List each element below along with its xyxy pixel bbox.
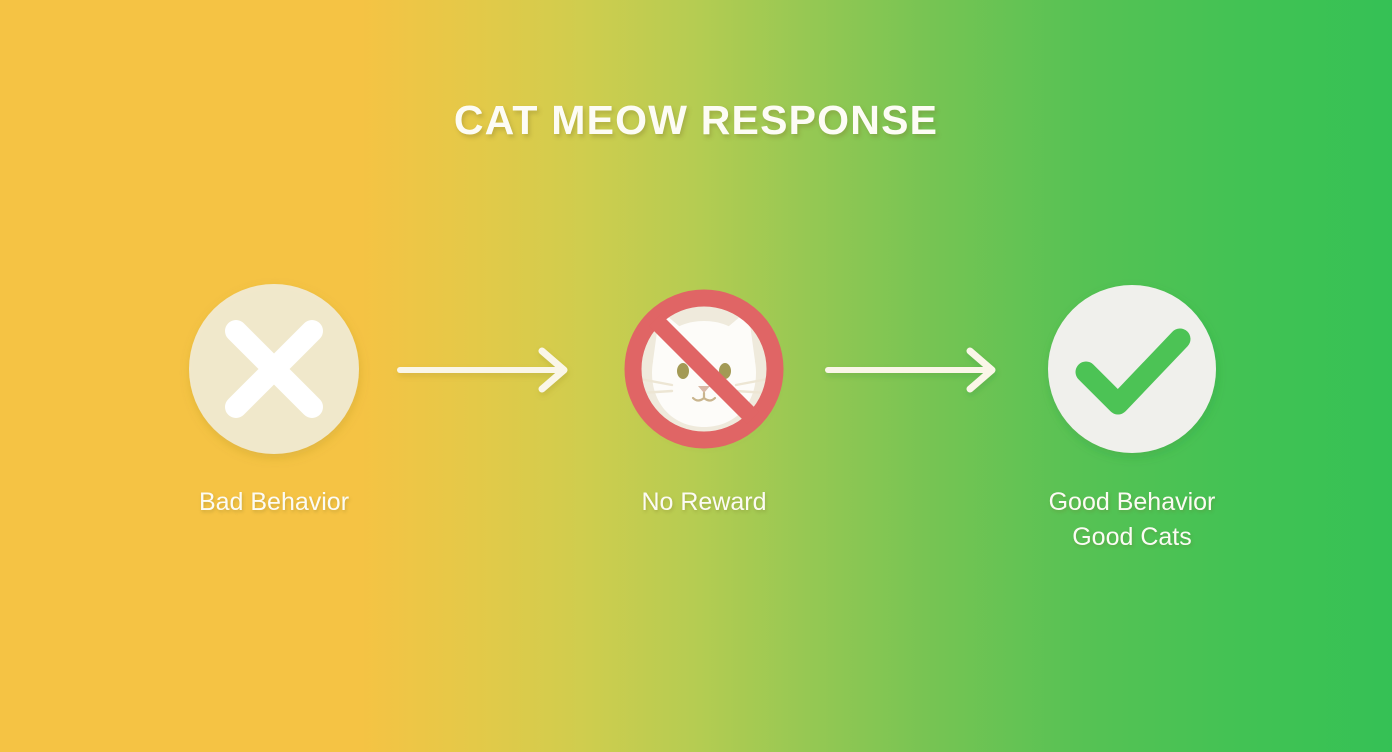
step-label-line-1: Good Behavior (1002, 485, 1262, 520)
arrow-right-icon (820, 345, 1020, 395)
check-circle-icon-wrapper (1002, 283, 1262, 455)
connector-arrow-2 (820, 345, 1020, 395)
cat-eye-left (677, 363, 689, 379)
step-label-bad-behavior: Bad Behavior (144, 485, 404, 520)
step-no-reward: No Reward (574, 283, 834, 520)
no-cat-prohibition-icon (620, 285, 788, 453)
no-cat-prohibition-icon-wrapper (574, 283, 834, 455)
check-circle-background (1048, 285, 1216, 453)
step-label-no-reward: No Reward (574, 485, 834, 520)
step-bad-behavior: Bad Behavior (144, 283, 404, 520)
page-title: CAT MEOW RESPONSE (0, 97, 1392, 144)
step-good-behavior: Good Behavior Good Cats (1002, 283, 1262, 555)
cross-circle-icon (188, 283, 360, 455)
infographic-canvas: CAT MEOW RESPONSE Bad Behavior (0, 0, 1392, 752)
connector-arrow-1 (392, 345, 592, 395)
step-label-line-2: Good Cats (1002, 520, 1262, 555)
step-label-good-behavior: Good Behavior Good Cats (1002, 485, 1262, 555)
check-circle-icon (1047, 284, 1217, 454)
step-label-line-1: Bad Behavior (144, 485, 404, 520)
step-label-line-1: No Reward (574, 485, 834, 520)
arrow-right-icon (392, 345, 592, 395)
cross-circle-icon-wrapper (144, 283, 404, 455)
